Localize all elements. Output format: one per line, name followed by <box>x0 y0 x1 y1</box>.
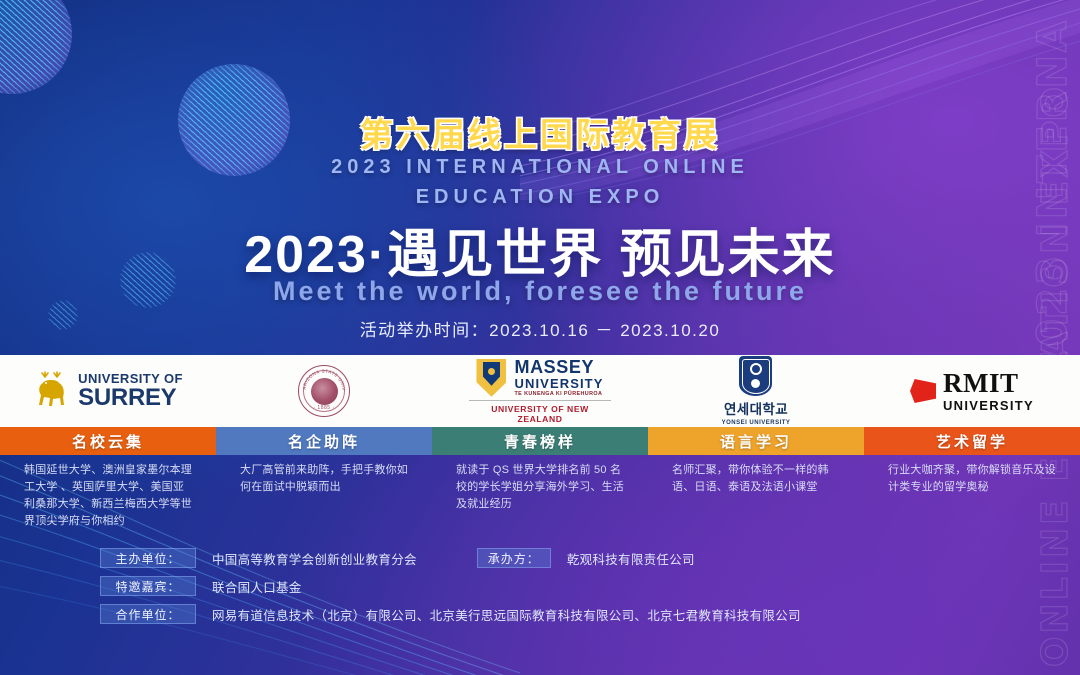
massey-line-2: UNIVERSITY <box>514 377 603 391</box>
title-en-line-1: 2023 INTERNATIONAL ONLINE <box>0 152 1080 182</box>
massey-line-1: MASSEY <box>514 358 603 377</box>
category-desc-text-3: 名师汇聚，带你体验不一样的韩语、日语、泰语及法语小课堂 <box>672 462 840 496</box>
category-desc-3: 名师汇聚，带你体验不一样的韩语、日语、泰语及法语小课堂 <box>648 462 864 530</box>
organizer-row-host: 主办单位： 中国高等教育学会创新创业教育分会 承办方： 乾观科技有限责任公司 <box>100 548 801 568</box>
category-desc-4: 行业大咖齐聚，带你解锁音乐及设计类专业的留学奥秘 <box>864 462 1080 530</box>
category-bar-2[interactable]: 青春榜样 <box>432 427 648 455</box>
category-bar-row: 名校云集 名企助阵 青春榜样 语言学习 艺术留学 <box>0 427 1080 455</box>
surrey-line-2: SURREY <box>78 386 183 410</box>
massey-subtitle: UNIVERSITY OF NEW ZEALAND <box>469 400 611 424</box>
logo-arizona-state-university[interactable]: ARIZONA STATE UNIVERSITY · 1885 · <box>216 355 432 427</box>
svg-text:ARIZONA STATE UNIVERSITY: ARIZONA STATE UNIVERSITY <box>299 366 346 391</box>
partner-logo-band: UNIVERSITY OF SURREY ARIZONA STATE UNIVE… <box>0 355 1080 427</box>
poster-canvas: 2023 INTERNA ONLINE EDUCATION EXPO 第六届线上… <box>0 0 1080 675</box>
yonsei-english-name: YONSEI UNIVERSITY <box>722 420 791 426</box>
category-bar-1[interactable]: 名企助阵 <box>216 427 432 455</box>
category-bar-4[interactable]: 艺术留学 <box>864 427 1080 455</box>
category-desc-text-0: 韩国延世大学、澳洲皇家墨尔本理工大学 、英国萨里大学、美国亚利桑那大学、新西兰梅… <box>24 462 192 530</box>
guest-label: 特邀嘉宾： <box>100 576 196 596</box>
category-desc-text-4: 行业大咖齐聚，带你解锁音乐及设计类专业的留学奥秘 <box>888 462 1056 496</box>
category-desc-0: 韩国延世大学、澳洲皇家墨尔本理工大学 、英国萨里大学、美国亚利桑那大学、新西兰梅… <box>0 462 216 530</box>
asu-ring-label: ARIZONA STATE UNIVERSITY <box>299 366 346 391</box>
logo-rmit-university[interactable]: RMIT UNIVERSITY <box>864 355 1080 427</box>
organizer-credits: 主办单位： 中国高等教育学会创新创业教育分会 承办方： 乾观科技有限责任公司 特… <box>100 548 801 632</box>
partner-value: 网易有道信息技术（北京）有限公司、北京美行思远国际教育科技有限公司、北京七君教育… <box>212 605 801 624</box>
slogan-en: Meet the world, foresee the future <box>0 276 1080 307</box>
operator-label: 承办方： <box>477 548 551 568</box>
category-desc-1: 大厂高管前来助阵，手把手教你如何在面试中脱颖而出 <box>216 462 432 530</box>
asu-year: · 1885 · <box>299 405 349 411</box>
stag-deer-icon <box>33 371 69 411</box>
operator-value: 乾观科技有限责任公司 <box>567 549 695 568</box>
logo-university-of-surrey[interactable]: UNIVERSITY OF SURREY <box>0 355 216 427</box>
category-desc-2: 就读于 QS 世界大学排名前 50 名校的学长学姐分享海外学习、生活及就业经历 <box>432 462 648 530</box>
seal-icon: ARIZONA STATE UNIVERSITY · 1885 · <box>298 365 350 417</box>
host-value: 中国高等教育学会创新创业教育分会 <box>212 549 417 568</box>
category-bar-0[interactable]: 名校云集 <box>0 427 216 455</box>
partner-label: 合作单位： <box>100 604 196 624</box>
rmit-cog-icon <box>910 379 936 403</box>
crest-shield-icon <box>476 359 506 397</box>
yonsei-korean-name: 연세대학교 <box>724 398 788 418</box>
logo-massey-university[interactable]: MASSEY UNIVERSITY TE KUNENGA KI PŪREHURO… <box>432 355 648 427</box>
massey-maori-line: TE KUNENGA KI PŪREHUROA <box>514 392 603 398</box>
title-en-line-2: EDUCATION EXPO <box>0 182 1080 212</box>
rmit-line-2: UNIVERSITY <box>943 399 1034 412</box>
hero-section: 第六届线上国际教育展 2023 INTERNATIONAL ONLINE EDU… <box>0 0 1080 355</box>
organizer-row-guest: 特邀嘉宾： 联合国人口基金 <box>100 576 801 596</box>
category-desc-text-1: 大厂高管前来助阵，手把手教你如何在面试中脱颖而出 <box>240 462 408 496</box>
logo-yonsei-university[interactable]: 연세대학교 YONSEI UNIVERSITY <box>648 355 864 427</box>
rmit-line-1: RMIT <box>943 370 1034 397</box>
host-label: 主办单位： <box>100 548 196 568</box>
guest-value: 联合国人口基金 <box>212 577 302 596</box>
organizer-row-partner: 合作单位： 网易有道信息技术（北京）有限公司、北京美行思远国际教育科技有限公司、… <box>100 604 801 624</box>
organizer-pair-operator: 承办方： 乾观科技有限责任公司 <box>477 548 695 568</box>
page-title-en: 2023 INTERNATIONAL ONLINE EDUCATION EXPO <box>0 152 1080 212</box>
category-description-row: 韩国延世大学、澳洲皇家墨尔本理工大学 、英国萨里大学、美国亚利桑那大学、新西兰梅… <box>0 462 1080 530</box>
event-date-line: 活动举办时间：2023.10.16 － 2023.10.20 <box>0 316 1080 341</box>
category-desc-text-2: 就读于 QS 世界大学排名前 50 名校的学长学姐分享海外学习、生活及就业经历 <box>456 462 624 513</box>
category-bar-3[interactable]: 语言学习 <box>648 427 864 455</box>
page-title-cn: 第六届线上国际教育展 <box>0 108 1080 156</box>
shield-icon <box>739 356 772 396</box>
